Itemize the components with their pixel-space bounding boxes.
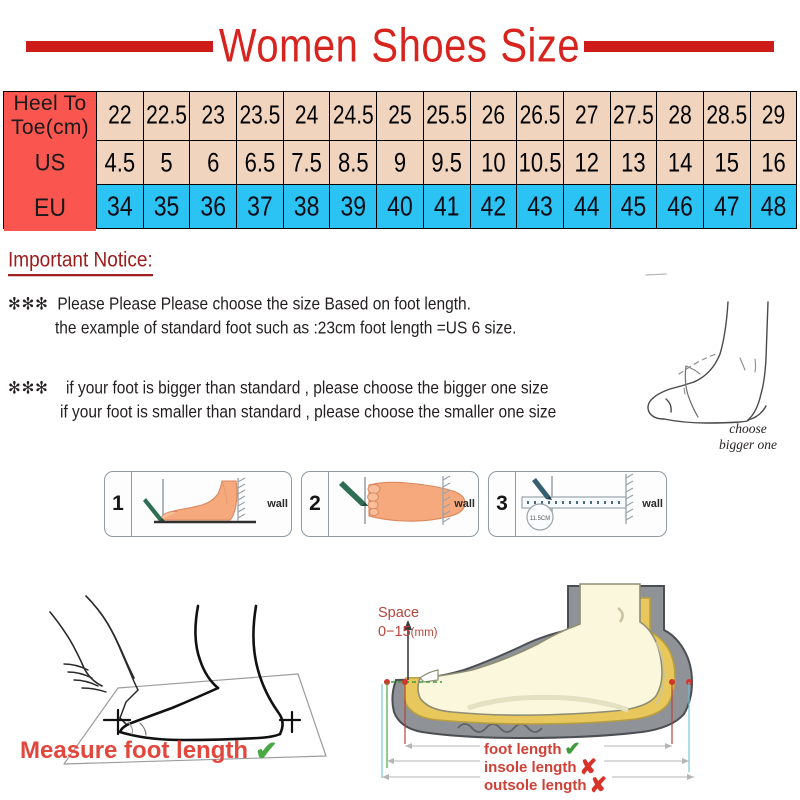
table-cell-eu: 36 [190,185,237,229]
step-number-3: 3 [489,472,516,536]
table-cell-us: 14 [657,141,704,185]
important-notice-section: Important Notice: ✻✻✻ Please Please Plea… [8,250,708,425]
notice-block-1: ✻✻✻ Please Please Please choose the size… [8,293,708,341]
step-number-2: 2 [302,472,329,536]
table-cell-cm: 28 [657,92,704,141]
table-row-eu: EU 34 35 36 37 38 39 40 41 42 43 44 45 4… [4,185,797,229]
table-cell-us: 10.5 [517,141,564,185]
table-cell-cm: 22.5 [143,92,190,141]
table-cell-eu: 47 [703,185,750,229]
table-cell-eu: 40 [377,185,424,229]
table-cell-cm: 27.5 [610,92,657,141]
table-cell-cm: 29 [750,92,797,141]
measurement-steps: 1 [104,471,667,537]
space-range: 0−15 [378,624,411,640]
space-label-line-2: 0−15(mm) [378,623,438,643]
table-cell-eu: 39 [330,185,377,229]
table-cell-cm: 28.5 [703,92,750,141]
notice-line-text: if your foot is bigger than standard , p… [66,379,549,398]
page-title: WomenShoesSize [219,22,580,69]
table-cell-eu: 48 [750,185,797,229]
table-cell-us: 6.5 [237,141,284,185]
table-cell-us: 15 [703,141,750,185]
wall-label: wall [454,498,475,510]
table-cell-cm: 22 [97,92,144,141]
notice-line: the example of standard foot such as :23… [8,316,708,343]
step-2-illustration: wall [329,472,478,536]
table-cell-us: 6 [190,141,237,185]
ruler-value-text: 11.5CM [530,516,551,522]
title-rule-right [584,41,774,52]
legend-label: outsole length [484,777,587,794]
table-cell-eu: 46 [657,185,704,229]
row-label-us: US [4,138,97,186]
table-cell-us: 12 [563,141,610,185]
measure-caption-text: Measure foot length [20,737,248,765]
table-cell-us: 10 [470,141,517,185]
table-cell-us: 7.5 [283,141,330,185]
table-cell-cm: 25 [377,92,424,141]
check-mark-icon: ✔ [255,738,278,765]
table-cell-cm: 24.5 [330,92,377,141]
table-cell-us: 13 [610,141,657,185]
wall-label: wall [267,498,288,510]
table-cell-eu: 45 [610,185,657,229]
legend-row-outsole-length: outsole length ✘ [484,776,607,794]
notice-block-2: ✻✻✻ if your foot is bigger than standard… [8,377,708,425]
table-cell-eu: 42 [470,185,517,229]
table-cell-us: 5 [143,141,190,185]
table-cell-us: 9.5 [423,141,470,185]
table-cell-eu: 43 [517,185,564,229]
size-chart-table: Heel To Toe(cm) 22 22.5 23 23.5 24 24.5 … [3,91,797,229]
title-rule-left [26,41,213,52]
step-number-1: 1 [105,472,132,536]
table-cell-cm: 25.5 [423,92,470,141]
notice-line: ✻✻✻ if your foot is bigger than standard… [8,376,708,403]
table-cell-eu: 37 [237,185,284,229]
table-row-heel-to-toe: Heel To Toe(cm) 22 22.5 23 23.5 24 24.5 … [4,92,797,141]
notice-bullet-stars: ✻✻✻ [8,379,49,398]
table-cell-cm: 23 [190,92,237,141]
table-cell-cm: 24 [283,92,330,141]
legend-row-insole-length: insole length ✘ [484,758,607,776]
measure-foot-length-caption: Measure foot length ✔ [20,737,278,765]
table-cell-cm: 27 [563,92,610,141]
table-cell-eu: 35 [143,185,190,229]
space-unit: (mm) [411,627,438,639]
page-title-word-1: Women [219,20,359,72]
notice-bullet-stars: ✻✻✻ [8,295,49,314]
notice-heading: Important Notice: [8,249,153,277]
table-cell-cm: 26.5 [517,92,564,141]
notice-line-text: if your foot is smaller than standard , … [60,403,556,422]
table-cell-cm: 23.5 [237,92,284,141]
page-title-word-3: Size [500,20,580,72]
choose-bigger-line-2: bigger one [698,437,798,453]
table-row-us: US 4.5 5 6 6.5 7.5 8.5 9 9.5 10 10.5 12 … [4,141,797,185]
step-1-illustration: wall [132,472,291,536]
notice-line: if your foot is smaller than standard , … [8,400,708,427]
cross-mark-icon: ✘ [590,775,608,796]
notice-line-text: the example of standard foot such as :23… [55,319,516,338]
table-cell-us: 16 [750,141,797,185]
row-label-eu: EU [4,182,97,230]
page-title-word-2: Shoes [371,20,487,72]
table-cell-eu: 34 [97,185,144,229]
step-3-illustration: 11.5CM wall [516,472,666,536]
space-measurement-label: Space 0−15(mm) [378,604,438,643]
table-cell-us: 8.5 [330,141,377,185]
check-mark-icon: ✔ [564,740,580,759]
table-cell-eu: 44 [563,185,610,229]
legend-label: foot length [484,741,561,758]
notice-line: ✻✻✻ Please Please Please choose the size… [8,292,708,319]
table-cell-eu: 41 [423,185,470,229]
page-title-bar: WomenShoesSize [0,18,800,74]
table-cell-us: 4.5 [97,141,144,185]
choose-bigger-line-1: choose [698,421,798,437]
choose-bigger-one-caption: choose bigger one [698,421,798,453]
step-panel-3: 3 11.5CM [488,471,667,537]
row-label-heel-to-toe: Heel To Toe(cm) [4,92,97,141]
space-label-line-1: Space [378,604,438,623]
notice-line-text: Please Please Please choose the size Bas… [57,295,471,314]
wall-label: wall [642,498,663,510]
table-cell-eu: 38 [283,185,330,229]
step-panel-1: 1 [104,471,292,537]
table-cell-cm: 26 [470,92,517,141]
shoe-length-legend: foot length ✔ insole length ✘ outsole le… [484,740,607,794]
step-panel-2: 2 [301,471,479,537]
table-cell-us: 9 [377,141,424,185]
legend-label: insole length [484,759,577,776]
